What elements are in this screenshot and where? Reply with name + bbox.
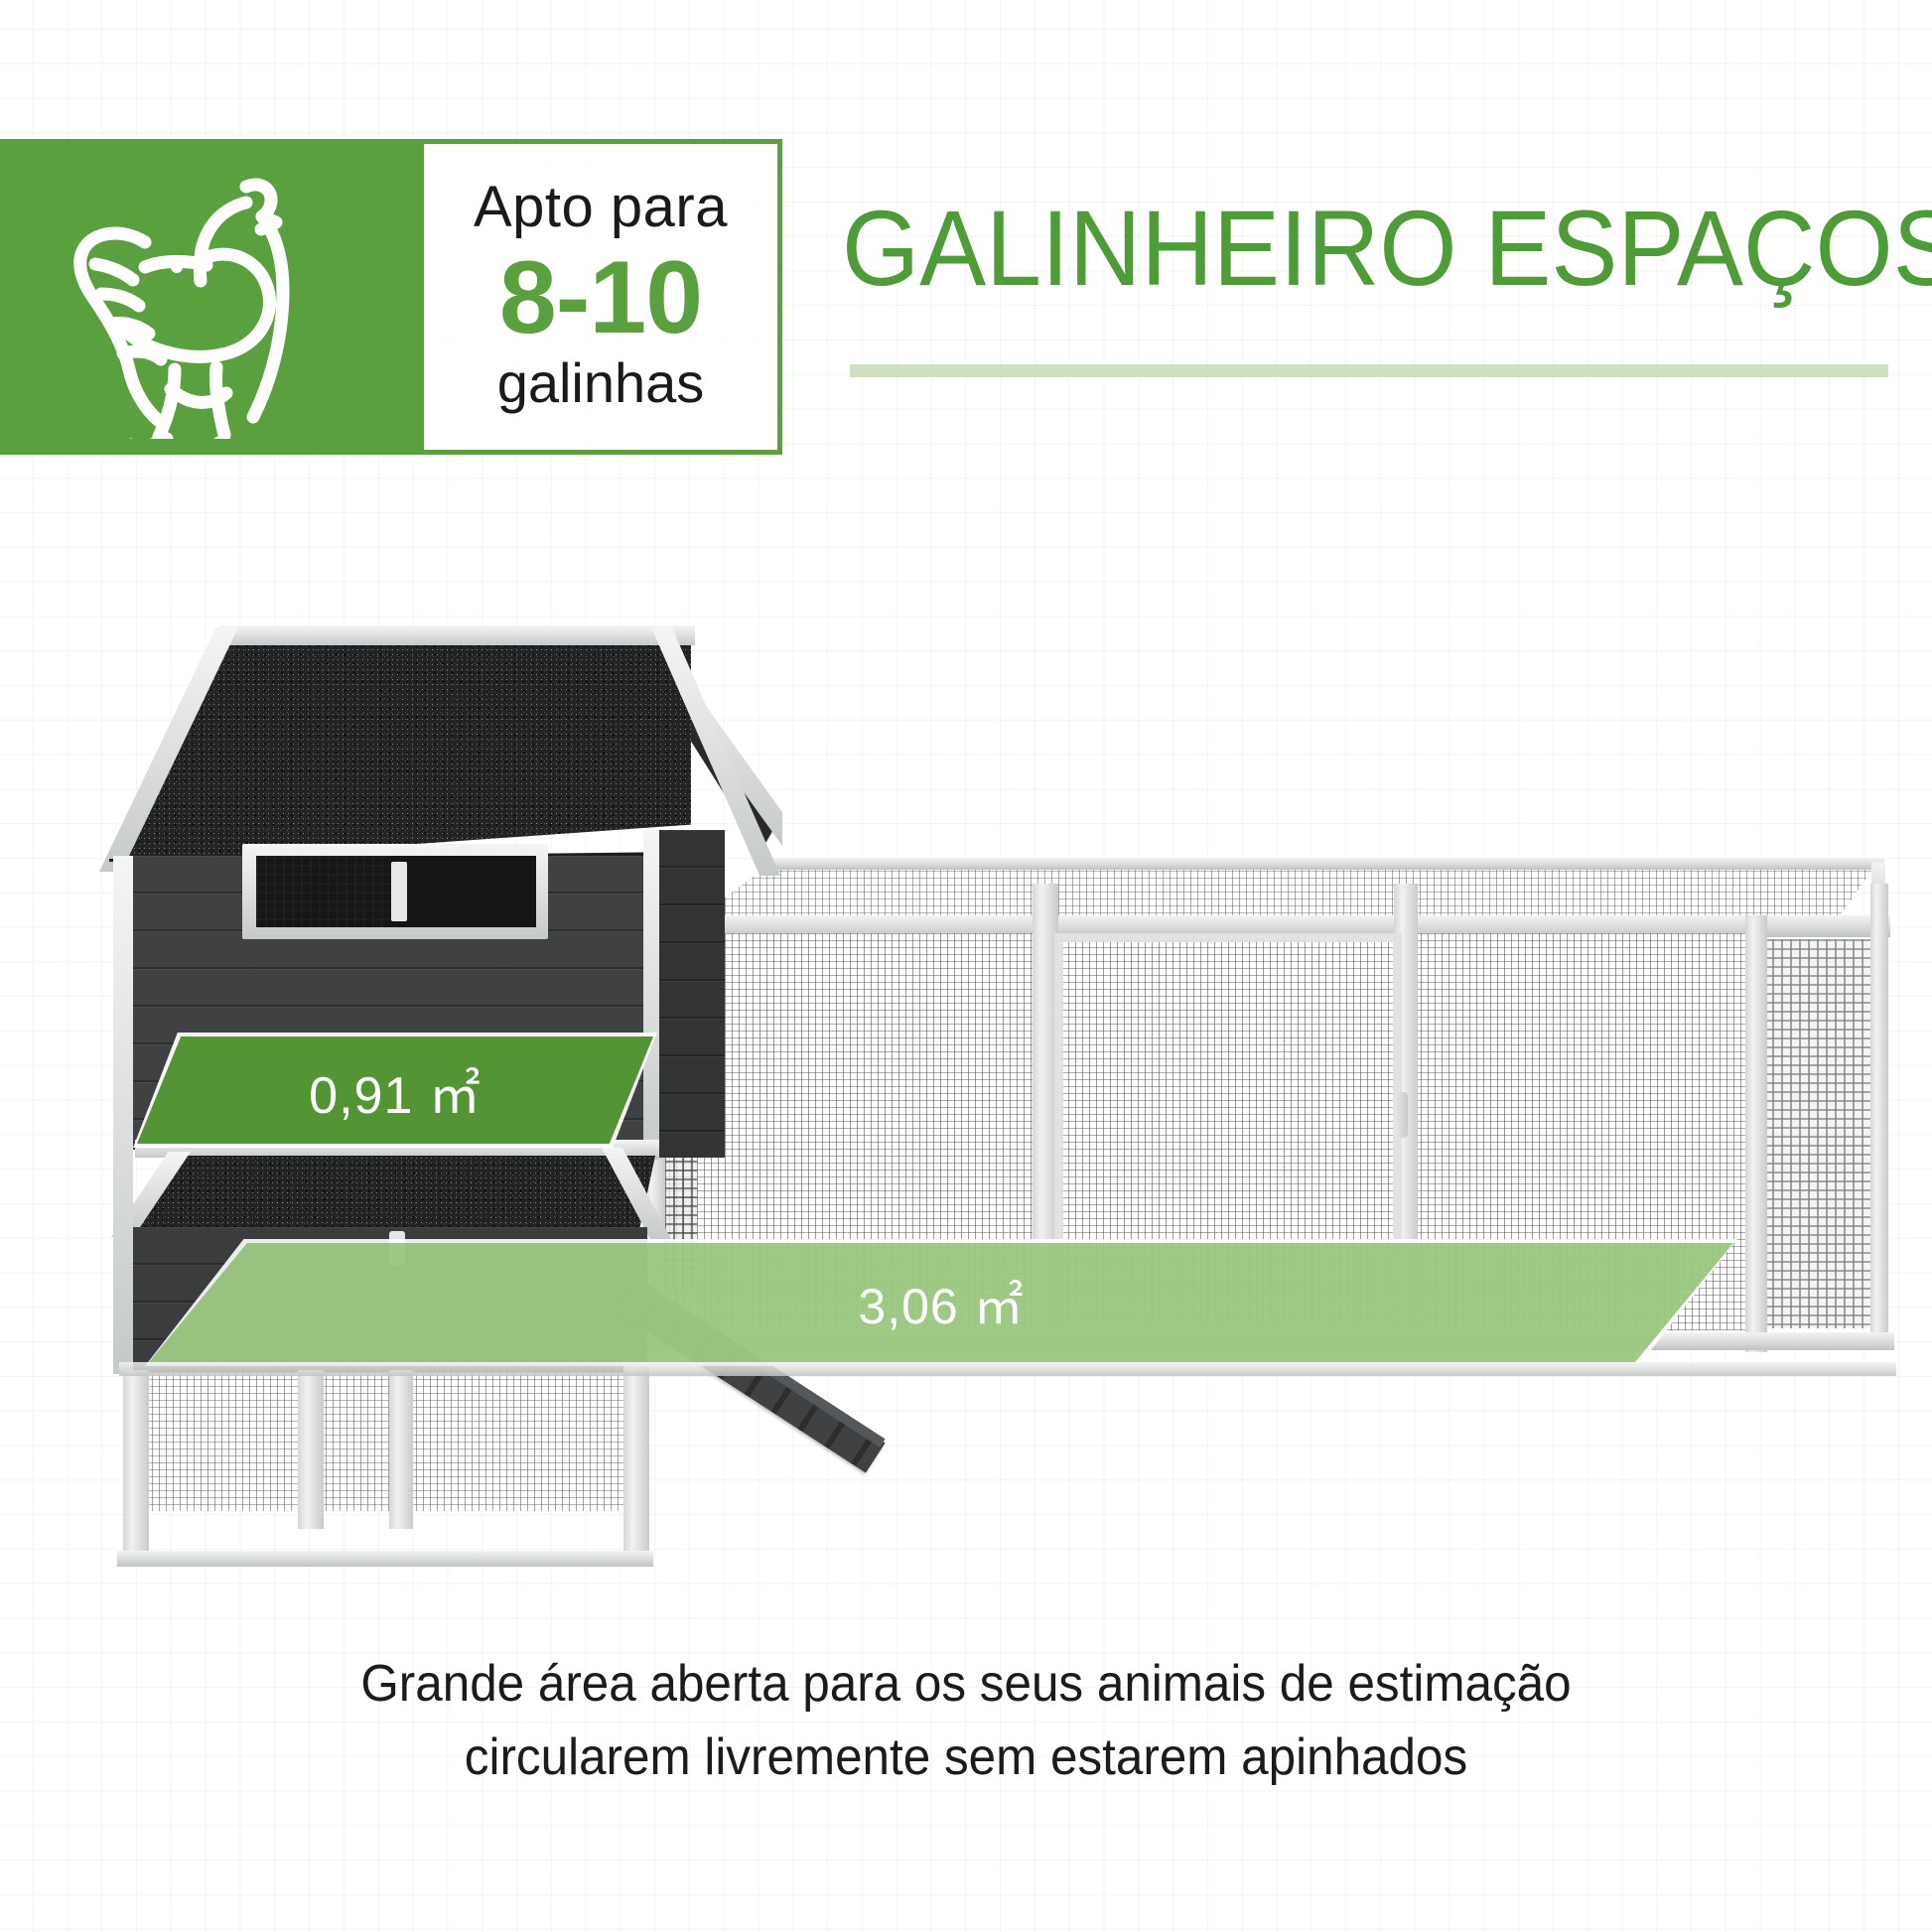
coop-window-slide-handle[interactable]: [391, 862, 407, 921]
badge-green-panel: [0, 139, 419, 455]
coop-left-corner-trim: [113, 856, 133, 1374]
chicken-icon: [52, 151, 340, 439]
caption-line-1: Grande área aberta para os seus animais …: [49, 1648, 1884, 1722]
run-roof-mesh: [655, 864, 1876, 919]
coop-side-wall: [651, 830, 725, 1158]
coop-leg-2: [298, 1370, 324, 1529]
caption-block: Grande área aberta para os seus animais …: [49, 1648, 1884, 1795]
run-area-label: 3,06 ㎡: [149, 1243, 1733, 1362]
run-post-4: [1745, 915, 1767, 1352]
product-ground-rail: [119, 1362, 1896, 1376]
infographic-canvas: Apto para 8-10 galinhas GALINHEIRO ESPAÇ…: [0, 0, 1932, 1932]
run-roof-back-rail: [766, 858, 1884, 870]
product-illustration: 0,91 ㎡ 3,06 ㎡: [0, 596, 1932, 1588]
nestbox-roof: [131, 1156, 655, 1229]
caption-line-2: circularem livremente sem estarem apinha…: [49, 1722, 1884, 1795]
coop-base-rail: [117, 1551, 653, 1567]
badge-count: 8-10: [499, 242, 702, 353]
coop-area-label: 0,91 ㎡: [137, 1036, 653, 1144]
coop-leg-3: [389, 1370, 413, 1529]
badge-top-label: Apto para: [474, 179, 728, 236]
run-door-handle[interactable]: [1394, 1092, 1408, 1138]
capacity-badge: Apto para 8-10 galinhas: [0, 139, 782, 455]
coop-roof-ridge-trim: [220, 625, 695, 645]
badge-bottom-label: galinhas: [497, 355, 705, 411]
title-underline-rule: [850, 364, 1888, 377]
capacity-text-box: Apto para 8-10 galinhas: [419, 139, 782, 455]
coop-leg-1: [123, 1370, 149, 1561]
run-mesh-right-face: [1763, 939, 1874, 1328]
run-post-right-rear: [1870, 884, 1888, 1350]
coop-under-mesh: [131, 1372, 635, 1511]
coop-leg-4: [623, 1362, 649, 1561]
coop-roof-main: [107, 637, 691, 866]
page-title: GALINHEIRO ESPAÇOSO: [842, 195, 1849, 302]
